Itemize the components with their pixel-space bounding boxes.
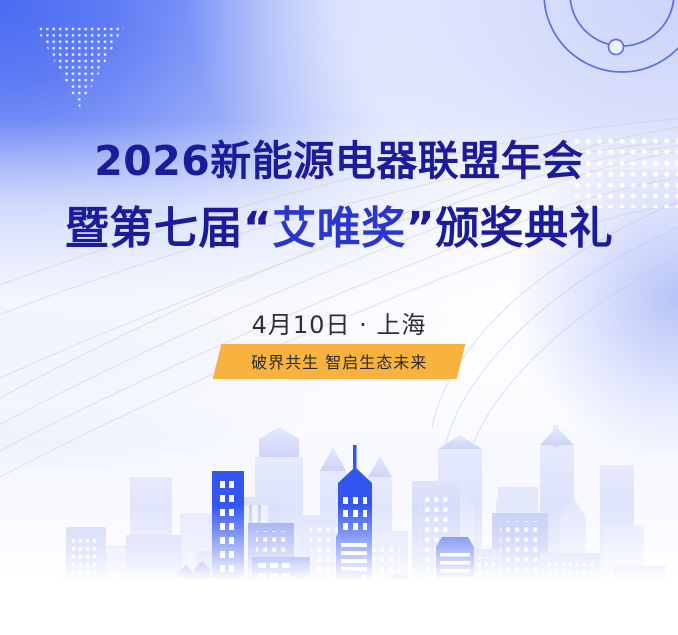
title-line-2-suffix: 颁奖典礼 [435, 203, 613, 254]
bottom-fade [0, 505, 678, 635]
dotted-triangle-icon [32, 20, 128, 110]
title-line-2: 暨第七届“艾唯奖”颁奖典礼 [0, 206, 678, 253]
headline-block: 2026新能源电器联盟年会 暨第七届“艾唯奖”颁奖典礼 [0, 140, 678, 253]
tagline-banner: 破界共生 智启生态未来 [213, 344, 466, 379]
poster-canvas: 2026新能源电器联盟年会 暨第七届“艾唯奖”颁奖典礼 4月10日 · 上海 破… [0, 0, 678, 635]
title-line-2-prefix: 暨第七届 [65, 203, 243, 254]
title-quote-close: ” [406, 203, 435, 254]
event-date-location: 4月10日 · 上海 [0, 305, 678, 340]
tagline-banner-row: 破界共生 智启生态未来 [0, 344, 678, 379]
title-award-name: 艾唯奖 [272, 203, 406, 254]
title-quote-open: “ [243, 203, 272, 254]
concentric-arcs-icon [504, 0, 678, 122]
title-line-1: 2026新能源电器联盟年会 [0, 140, 678, 183]
tagline-text: 破界共生 智启生态未来 [251, 349, 427, 373]
